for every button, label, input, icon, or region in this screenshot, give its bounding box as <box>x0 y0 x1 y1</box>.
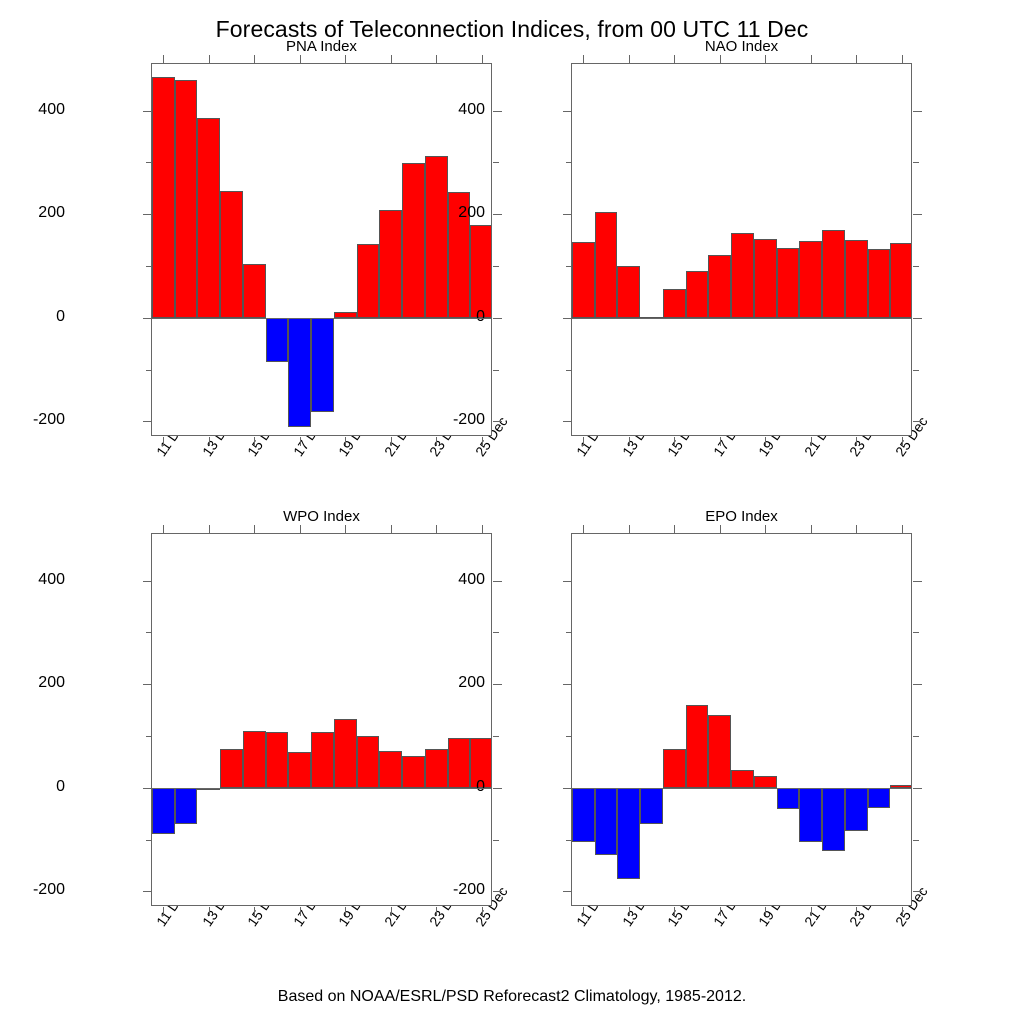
y-tick-major <box>143 788 152 789</box>
x-tick-bottom <box>674 907 675 916</box>
x-tick-bottom <box>765 437 766 446</box>
y-axis-label: 0 <box>13 778 65 796</box>
x-tick-bottom <box>583 437 584 446</box>
x-tick-bottom <box>629 907 630 916</box>
bar <box>822 788 845 851</box>
bar <box>243 264 266 317</box>
x-tick-bottom <box>856 907 857 916</box>
y-tick-minor-right <box>913 736 919 737</box>
x-tick-bottom <box>720 907 721 916</box>
bar <box>175 80 198 318</box>
y-tick-minor <box>146 840 152 841</box>
x-tick-top <box>902 55 903 64</box>
y-tick-minor-right <box>913 162 919 163</box>
y-axis-label: 200 <box>13 674 65 692</box>
x-tick-bottom <box>209 907 210 916</box>
x-tick-top <box>391 55 392 64</box>
y-tick-minor-right <box>913 632 919 633</box>
x-tick-top <box>765 525 766 534</box>
bar <box>197 118 220 317</box>
y-tick-major-right <box>913 581 922 582</box>
bar <box>708 255 731 318</box>
bar <box>731 770 754 788</box>
bar <box>220 749 243 788</box>
y-tick-major <box>563 421 572 422</box>
y-axis-label: 400 <box>13 571 65 589</box>
x-tick-bottom <box>345 437 346 446</box>
y-tick-major-right <box>913 421 922 422</box>
y-tick-minor-right <box>493 632 499 633</box>
bar <box>595 212 618 318</box>
y-tick-minor-right <box>493 840 499 841</box>
y-tick-major <box>563 788 572 789</box>
panel-title-pna: PNA Index <box>81 38 562 55</box>
bar <box>470 225 491 318</box>
x-tick-top <box>720 55 721 64</box>
y-tick-minor-right <box>493 736 499 737</box>
x-tick-top <box>345 525 346 534</box>
y-tick-minor-right <box>913 840 919 841</box>
bar <box>822 230 845 318</box>
y-axis-label: 200 <box>13 204 65 222</box>
bar <box>220 191 243 318</box>
x-tick-bottom <box>254 437 255 446</box>
x-tick-bottom <box>856 437 857 446</box>
y-axis-label: 0 <box>433 778 485 796</box>
y-tick-major <box>143 421 152 422</box>
panel-title-wpo: WPO Index <box>81 508 562 525</box>
bar <box>288 318 311 427</box>
plot-area-nao <box>571 63 912 436</box>
y-tick-major <box>563 111 572 112</box>
y-tick-major-right <box>913 788 922 789</box>
y-tick-minor <box>566 632 572 633</box>
bar <box>868 249 891 318</box>
bar <box>845 240 868 318</box>
bar <box>754 239 777 318</box>
y-axis-label: 400 <box>13 101 65 119</box>
panel-wpo: WPO Index-200020040011 Dec13 Dec15 Dec17… <box>81 508 562 991</box>
y-tick-major <box>563 891 572 892</box>
x-tick-top <box>163 55 164 64</box>
y-tick-minor-right <box>493 370 499 371</box>
x-tick-bottom <box>583 907 584 916</box>
panel-epo: EPO Index-200020040011 Dec13 Dec15 Dec17… <box>501 508 982 991</box>
bar <box>379 751 402 788</box>
x-tick-top <box>674 55 675 64</box>
y-tick-major-right <box>913 214 922 215</box>
x-tick-bottom <box>391 907 392 916</box>
bar <box>799 788 822 842</box>
bar <box>266 732 289 787</box>
x-tick-top <box>300 525 301 534</box>
x-tick-bottom <box>163 437 164 446</box>
y-axis-label: 0 <box>13 308 65 326</box>
bar <box>890 243 911 318</box>
bar <box>175 788 198 824</box>
x-tick-top <box>482 55 483 64</box>
bar <box>777 248 800 318</box>
bars-layer <box>152 64 491 435</box>
x-tick-top <box>254 525 255 534</box>
bar <box>379 210 402 318</box>
x-tick-top <box>765 55 766 64</box>
y-tick-minor <box>146 736 152 737</box>
y-tick-major <box>563 214 572 215</box>
x-tick-bottom <box>902 437 903 446</box>
y-tick-minor <box>566 370 572 371</box>
panel-title-epo: EPO Index <box>501 508 982 525</box>
y-tick-minor <box>146 370 152 371</box>
x-tick-top <box>856 525 857 534</box>
bar <box>425 156 448 318</box>
x-tick-bottom <box>902 907 903 916</box>
x-tick-top <box>436 55 437 64</box>
y-tick-major <box>563 318 572 319</box>
x-tick-top <box>811 55 812 64</box>
plot-area-pna <box>151 63 492 436</box>
bars-layer <box>152 534 491 905</box>
zero-line <box>152 788 491 789</box>
x-tick-top <box>629 525 630 534</box>
x-tick-top <box>482 525 483 534</box>
y-tick-major-right <box>913 684 922 685</box>
x-tick-top <box>209 525 210 534</box>
bar <box>617 788 640 879</box>
y-tick-minor <box>566 266 572 267</box>
x-tick-bottom <box>391 437 392 446</box>
x-tick-bottom <box>482 437 483 446</box>
x-tick-bottom <box>765 907 766 916</box>
y-tick-major <box>143 581 152 582</box>
y-tick-major <box>563 581 572 582</box>
y-axis-label: -200 <box>433 411 485 429</box>
x-tick-top <box>902 525 903 534</box>
x-tick-bottom <box>436 907 437 916</box>
panel-title-nao: NAO Index <box>501 38 982 55</box>
y-tick-minor <box>566 162 572 163</box>
bar <box>754 776 777 787</box>
bar <box>402 163 425 317</box>
y-tick-major-right <box>913 111 922 112</box>
figure-root: Forecasts of Teleconnection Indices, fro… <box>0 0 1024 1024</box>
y-axis-label: -200 <box>433 881 485 899</box>
x-tick-top <box>720 525 721 534</box>
bar <box>402 756 425 788</box>
x-tick-top <box>811 525 812 534</box>
panel-nao: NAO Index-200020040011 Dec13 Dec15 Dec17… <box>501 38 982 521</box>
y-tick-minor-right <box>493 162 499 163</box>
bar <box>686 271 709 318</box>
bar <box>799 241 822 318</box>
bar <box>572 788 595 842</box>
y-tick-major <box>143 891 152 892</box>
bar <box>572 242 595 318</box>
bar <box>152 77 175 318</box>
y-tick-major <box>143 318 152 319</box>
zero-line <box>152 318 491 319</box>
y-tick-major <box>563 684 572 685</box>
zero-line <box>572 318 911 319</box>
bar <box>845 788 868 831</box>
figure-caption: Based on NOAA/ESRL/PSD Reforecast2 Clima… <box>0 988 1024 1006</box>
x-tick-bottom <box>811 437 812 446</box>
zero-line <box>572 788 911 789</box>
x-tick-bottom <box>720 437 721 446</box>
y-axis-label: 400 <box>433 101 485 119</box>
y-axis-label: 200 <box>433 204 485 222</box>
y-tick-major-right <box>913 891 922 892</box>
x-tick-top <box>629 55 630 64</box>
bar <box>708 715 731 788</box>
x-tick-bottom <box>482 907 483 916</box>
bar <box>640 788 663 824</box>
x-tick-top <box>856 55 857 64</box>
bar <box>311 732 334 788</box>
x-tick-bottom <box>300 907 301 916</box>
bar <box>288 752 311 788</box>
y-tick-minor <box>146 632 152 633</box>
y-axis-label: -200 <box>13 881 65 899</box>
y-tick-minor-right <box>913 266 919 267</box>
bar <box>617 266 640 318</box>
x-tick-top <box>163 525 164 534</box>
bar <box>663 749 686 788</box>
y-tick-major <box>143 214 152 215</box>
x-tick-top <box>209 55 210 64</box>
plot-area-wpo <box>151 533 492 906</box>
bar <box>731 233 754 317</box>
y-tick-minor-right <box>913 370 919 371</box>
y-axis-label: 200 <box>433 674 485 692</box>
bars-layer <box>572 534 911 905</box>
x-tick-bottom <box>629 437 630 446</box>
x-tick-top <box>254 55 255 64</box>
x-tick-top <box>345 55 346 64</box>
bar <box>243 731 266 788</box>
y-tick-major <box>143 684 152 685</box>
y-axis-label: -200 <box>13 411 65 429</box>
x-tick-top <box>583 55 584 64</box>
y-tick-minor-right <box>493 266 499 267</box>
y-tick-major <box>143 111 152 112</box>
x-tick-top <box>391 525 392 534</box>
x-tick-top <box>436 525 437 534</box>
bars-layer <box>572 64 911 435</box>
bar <box>334 719 357 788</box>
x-tick-bottom <box>254 907 255 916</box>
x-tick-bottom <box>300 437 301 446</box>
x-tick-bottom <box>345 907 346 916</box>
bar <box>595 788 618 855</box>
y-tick-minor <box>146 266 152 267</box>
bar <box>663 289 686 317</box>
x-tick-bottom <box>436 437 437 446</box>
y-tick-minor <box>566 840 572 841</box>
y-axis-label: 400 <box>433 571 485 589</box>
bar <box>357 736 380 788</box>
y-tick-minor <box>566 736 572 737</box>
x-tick-bottom <box>163 907 164 916</box>
x-tick-top <box>674 525 675 534</box>
bar <box>266 318 289 362</box>
panel-pna: PNA Index-200020040011 Dec13 Dec15 Dec17… <box>81 38 562 521</box>
bar <box>777 788 800 809</box>
x-tick-top <box>583 525 584 534</box>
y-tick-major-right <box>913 318 922 319</box>
bar <box>311 318 334 412</box>
bar <box>868 788 891 808</box>
y-tick-minor <box>146 162 152 163</box>
x-tick-bottom <box>209 437 210 446</box>
bar <box>686 705 709 788</box>
bar <box>357 244 380 318</box>
plot-area-epo <box>571 533 912 906</box>
bar <box>152 788 175 835</box>
x-tick-bottom <box>674 437 675 446</box>
x-tick-top <box>300 55 301 64</box>
y-axis-label: 0 <box>433 308 485 326</box>
x-tick-bottom <box>811 907 812 916</box>
